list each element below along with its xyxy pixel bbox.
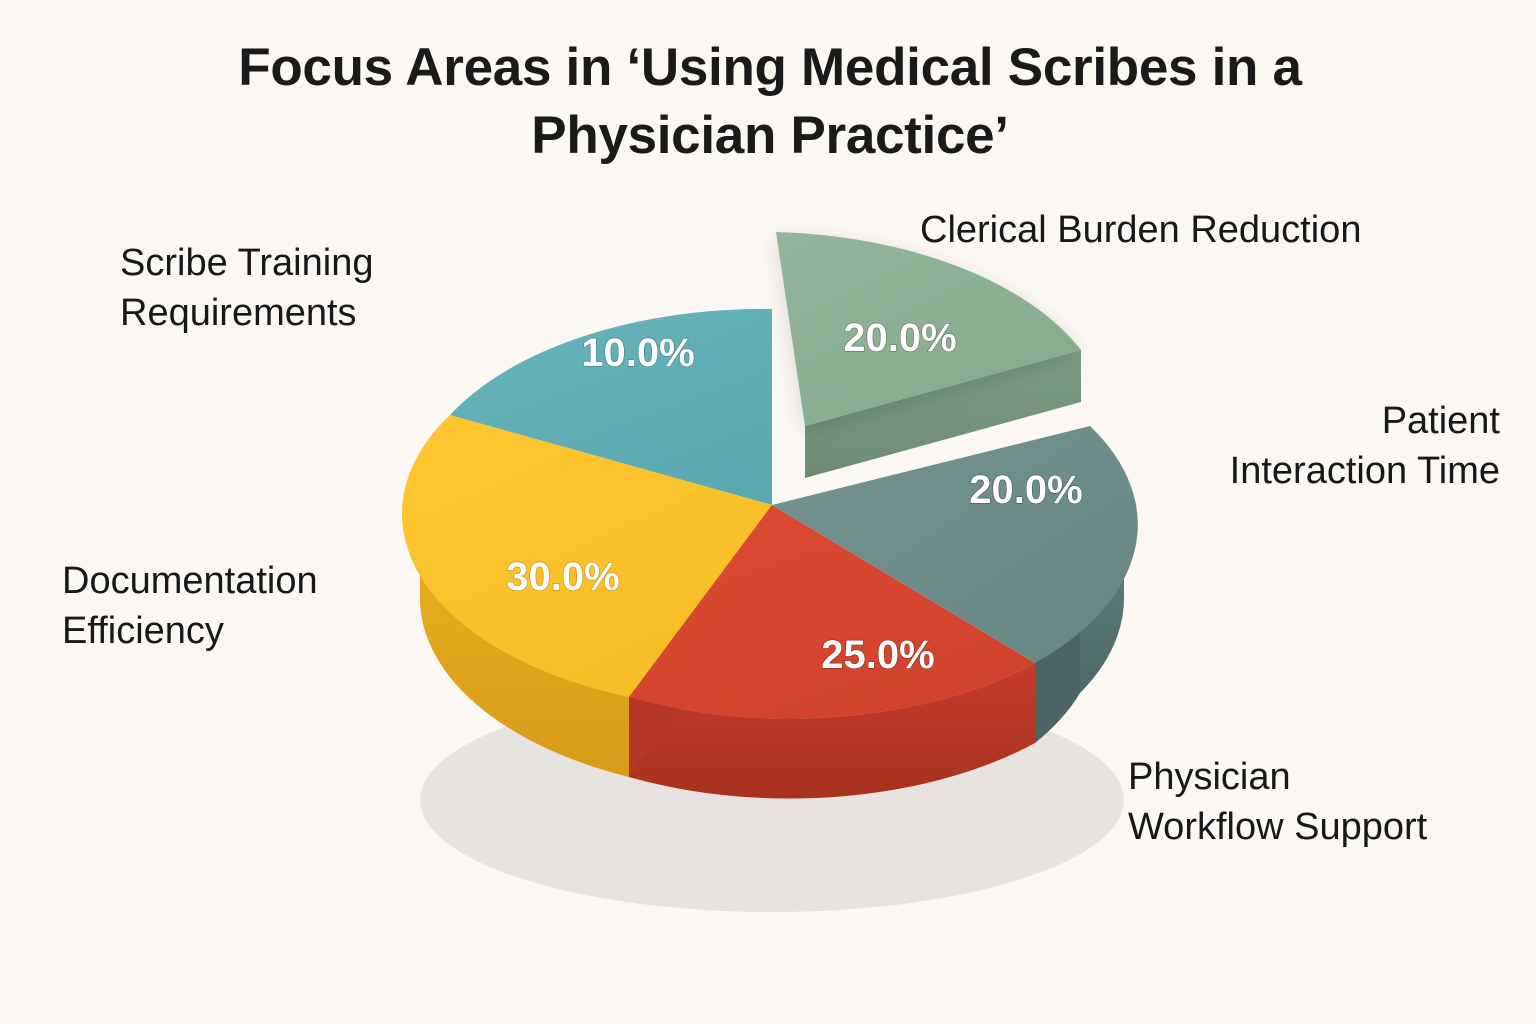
slice-value-patient-interaction-time: 20.0% [969, 468, 1082, 512]
slice-value-documentation-efficiency: 30.0% [506, 555, 619, 599]
slice-label-documentation-efficiency: Documentation Efficiency [62, 556, 462, 656]
slice-label-physician-workflow-support: Physician Workflow Support [1128, 752, 1528, 852]
slice-value-physician-workflow-support: 25.0% [821, 633, 934, 677]
slice-label-clerical-burden-reduction: Clerical Burden Reduction [920, 205, 1480, 255]
slice-label-patient-interaction-time: Patient Interaction Time [1075, 396, 1500, 496]
slice-value-scribe-training-requirements: 10.0% [581, 331, 694, 375]
pie-chart-graphic: 20.0% 20.0% 25.0% 30.0% 10.0% [0, 0, 1536, 1024]
slice-label-scribe-training-requirements: Scribe Training Requirements [120, 238, 520, 338]
slice-value-clerical-burden-reduction: 20.0% [843, 316, 956, 360]
pie-chart-figure: Focus Areas in ‘Using Medical Scribes in… [0, 0, 1536, 1024]
